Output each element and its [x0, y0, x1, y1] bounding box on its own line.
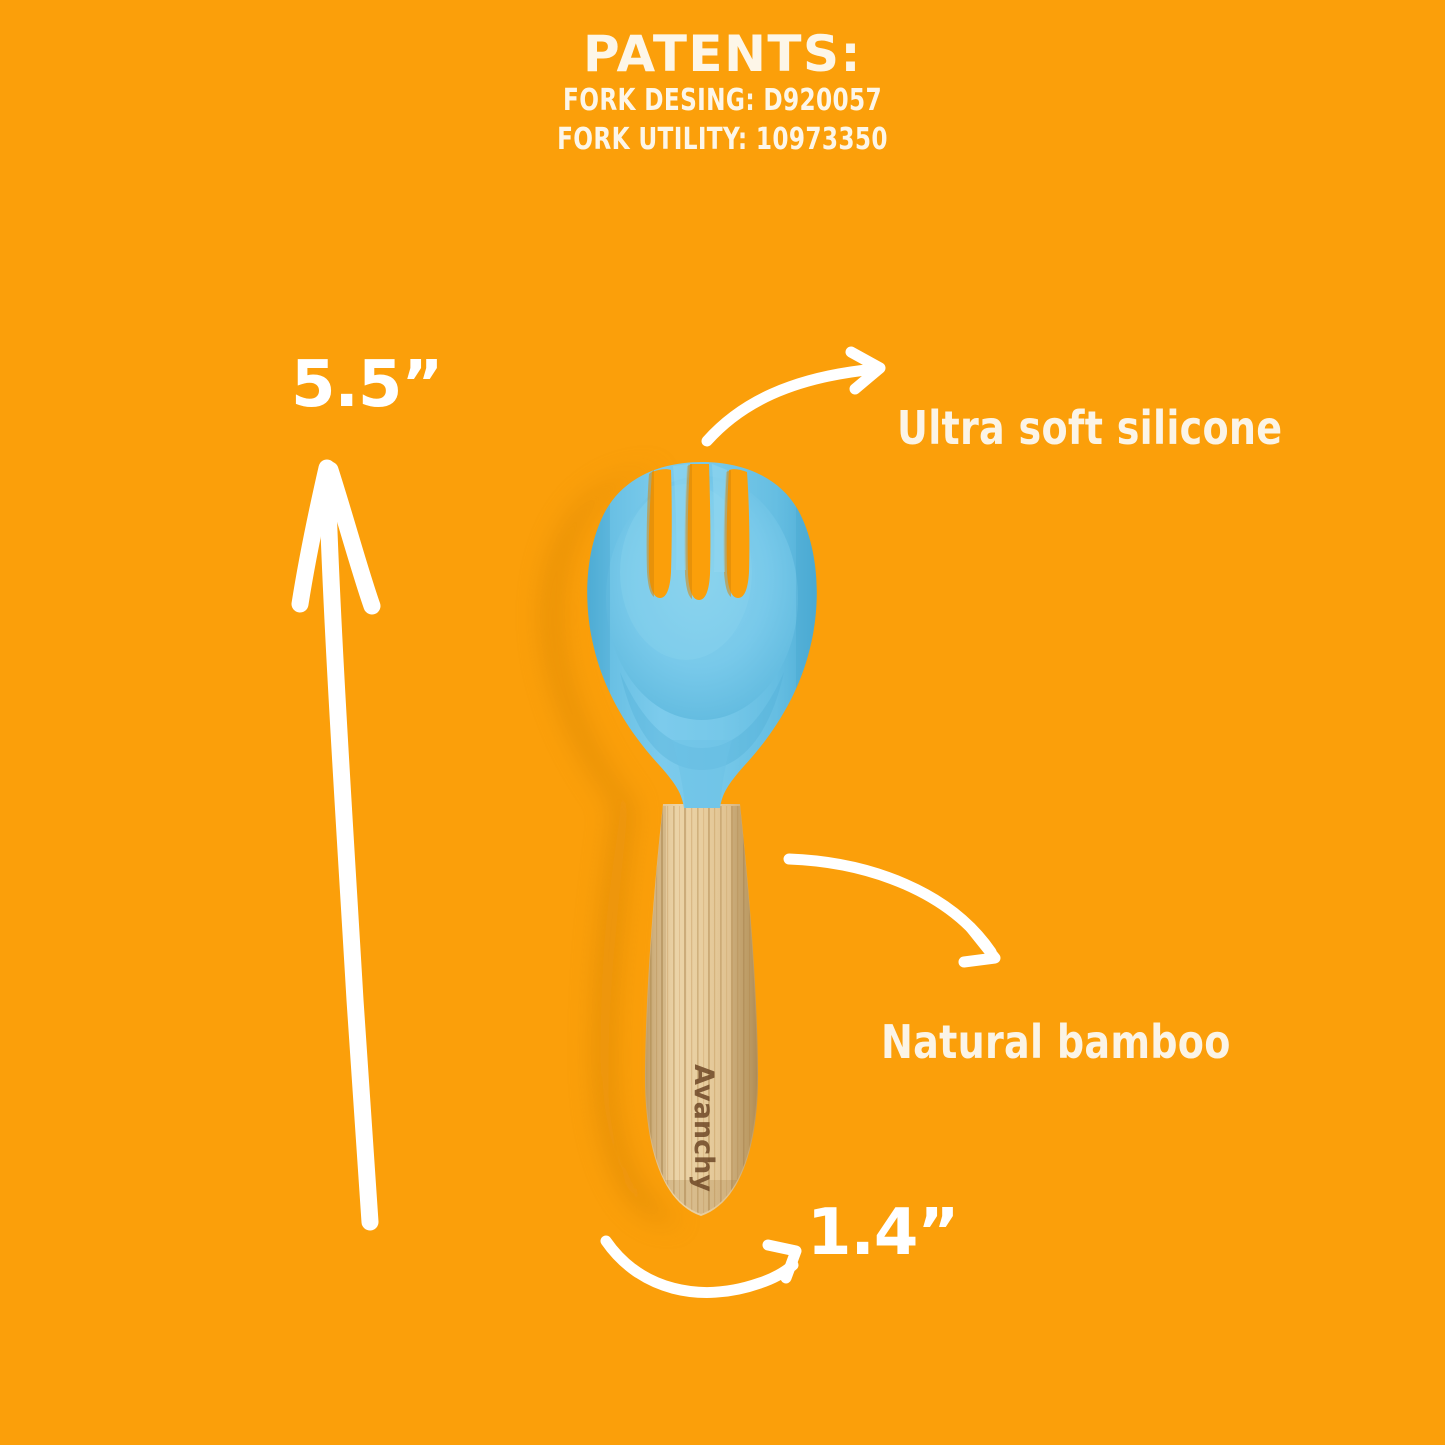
callout-arrows [0, 0, 1445, 1445]
callout-label-silicone: Ultra soft silicone [897, 401, 1282, 455]
curved-arrow-right-icon [606, 1241, 796, 1292]
callout-label-bamboo: Natural bamboo [881, 1015, 1231, 1069]
infographic-canvas: PATENTS: FORK DESING: D920057 FORK UTILI… [0, 0, 1445, 1445]
curved-arrow-up-right-icon [707, 352, 880, 441]
curved-arrow-down-right-icon [789, 859, 995, 962]
dimension-label-width: 1.4” [807, 1196, 958, 1270]
dimension-label-height: 5.5” [291, 348, 442, 422]
vertical-arrow-up-icon [300, 468, 372, 1222]
